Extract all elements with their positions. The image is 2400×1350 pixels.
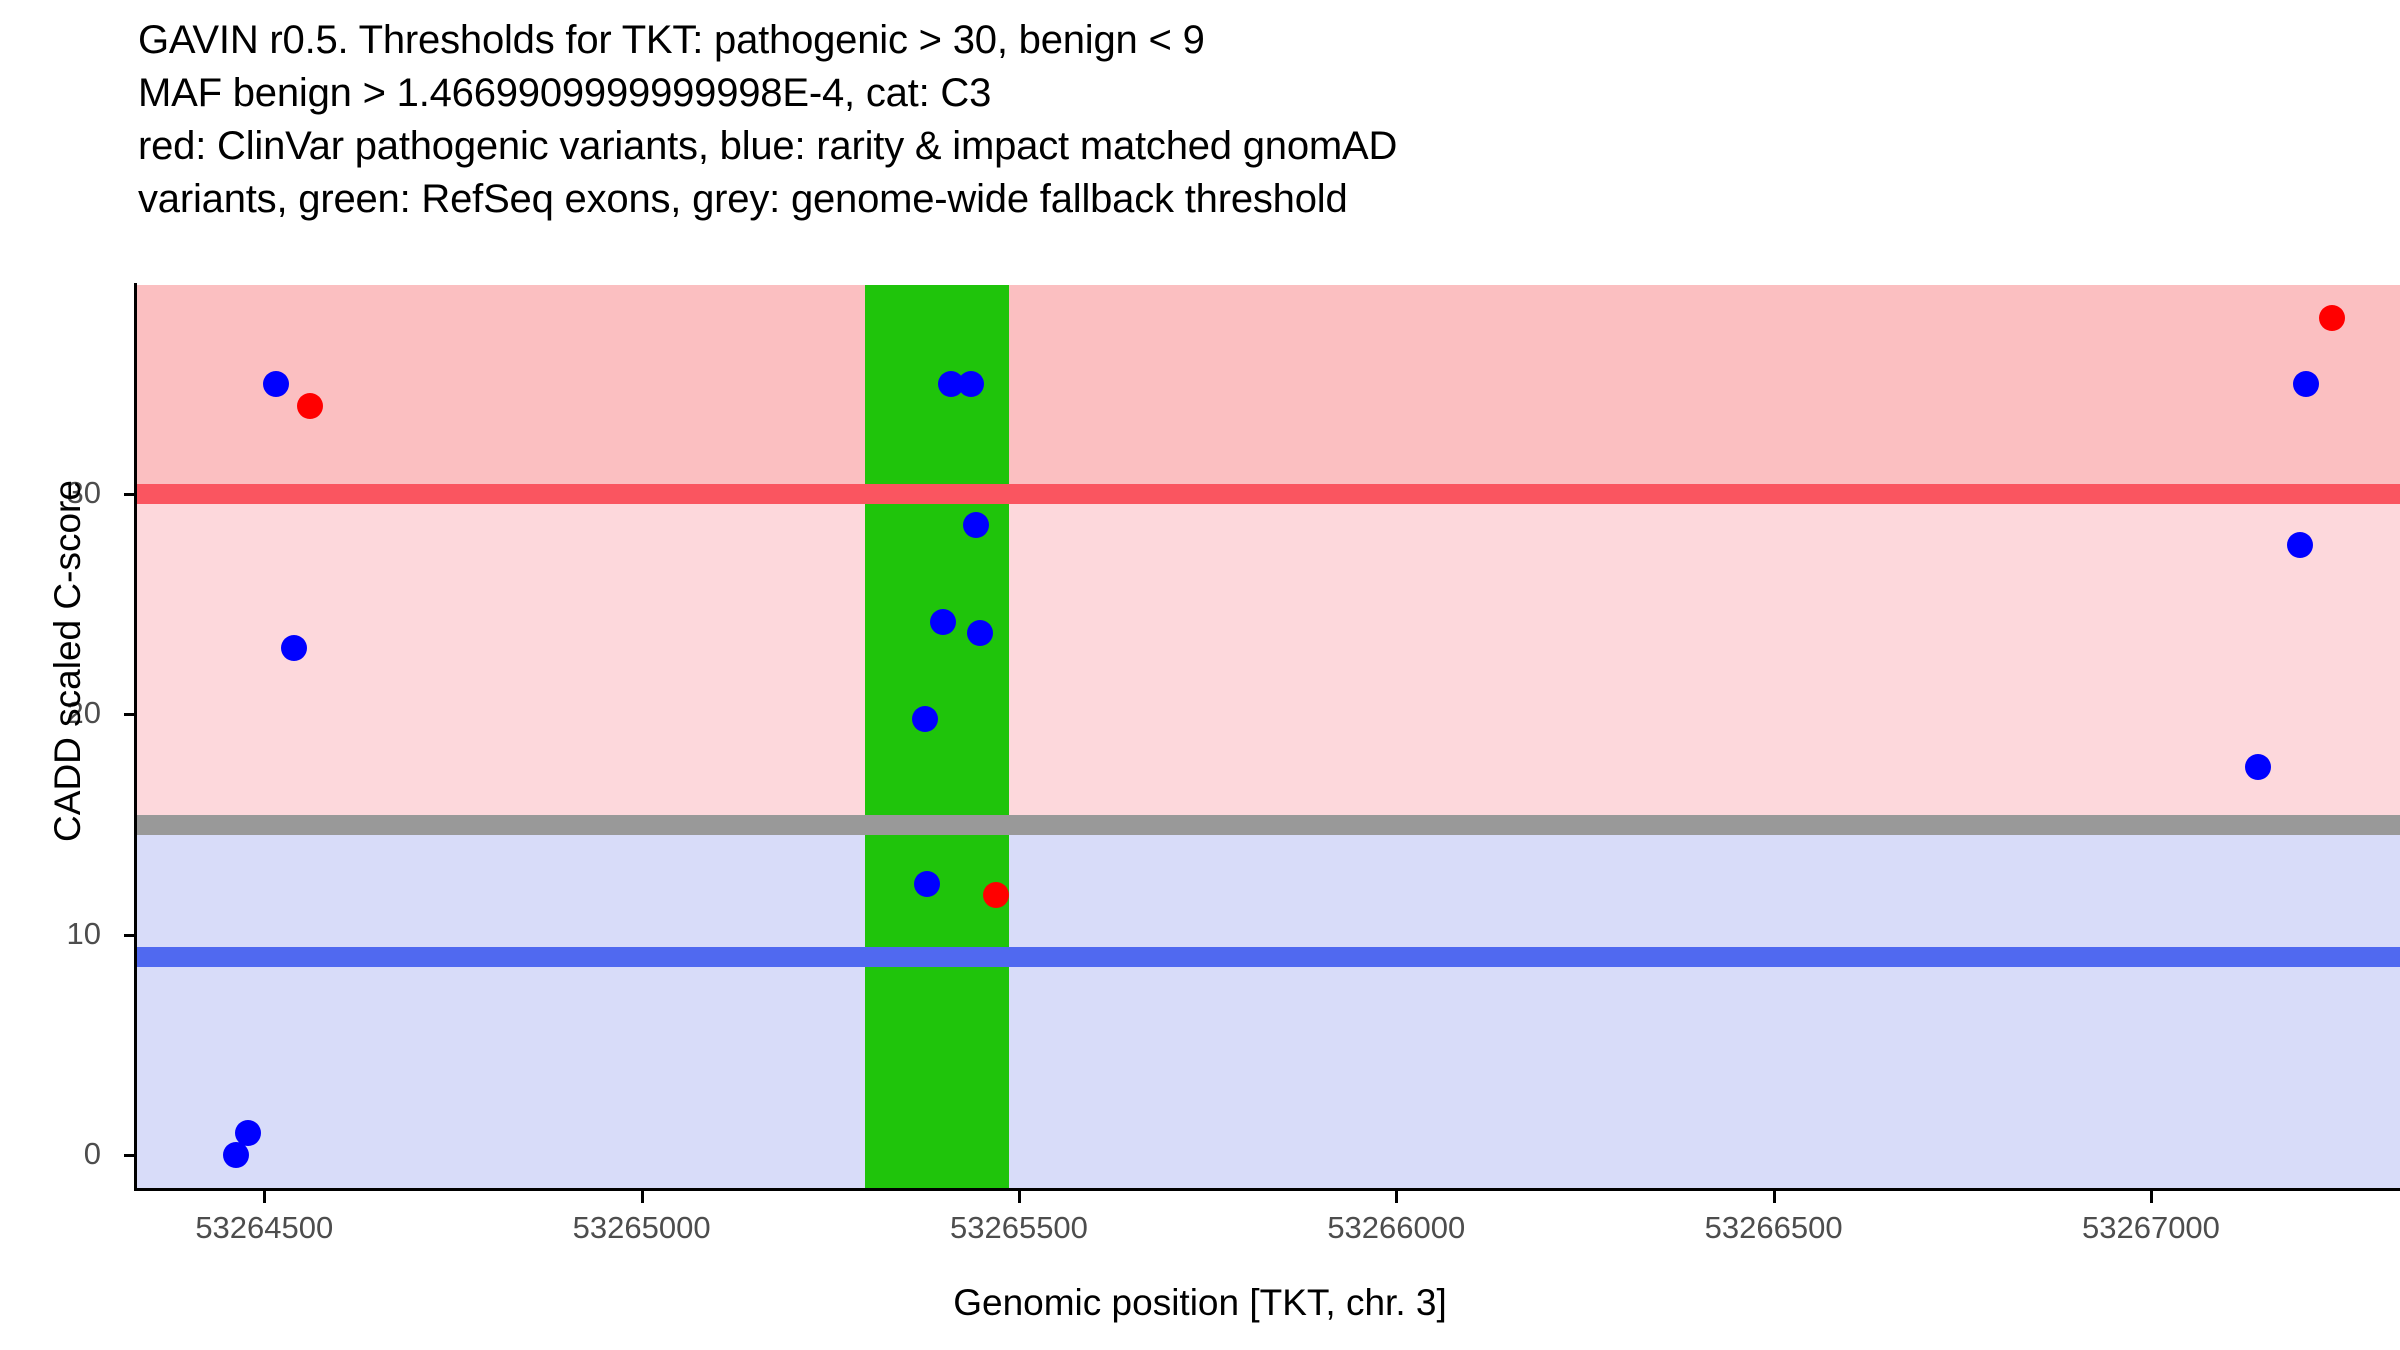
x-tick-mark: [1018, 1191, 1021, 1203]
x-axis-title: Genomic position [TKT, chr. 3]: [0, 1282, 2400, 1324]
title-line-3: red: ClinVar pathogenic variants, blue: …: [138, 120, 2238, 173]
data-point: [963, 512, 989, 538]
y-tick-label: 0: [0, 1136, 101, 1172]
x-tick-label: 53265000: [512, 1210, 772, 1246]
pathogenic-threshold-line: [136, 484, 2400, 504]
title-line-1: GAVIN r0.5. Thresholds for TKT: pathogen…: [138, 14, 2238, 67]
data-point: [912, 706, 938, 732]
benign-zone: [136, 825, 2400, 1188]
data-point: [2319, 305, 2345, 331]
x-tick-label: 53264500: [134, 1210, 394, 1246]
title-line-2: MAF benign > 1.4669909999999998E-4, cat:…: [138, 67, 2238, 120]
x-tick-label: 53265500: [889, 1210, 1149, 1246]
x-tick-mark: [1395, 1191, 1398, 1203]
y-tick-mark: [124, 713, 135, 716]
x-tick-label: 53266000: [1266, 1210, 1526, 1246]
x-tick-mark: [1773, 1191, 1776, 1203]
fallback-threshold-line: [136, 815, 2400, 835]
y-axis-title-wrap: CADD scaled C-score: [0, 0, 1, 1]
benign-threshold-line: [136, 947, 2400, 967]
chart-figure: GAVIN r0.5. Thresholds for TKT: pathogen…: [0, 0, 2400, 1350]
x-tick-mark: [263, 1191, 266, 1203]
data-point: [297, 393, 323, 419]
data-point: [2293, 371, 2319, 397]
data-point: [958, 371, 984, 397]
x-tick-mark: [2150, 1191, 2153, 1203]
x-tick-label: 53266500: [1644, 1210, 1904, 1246]
pathogenic-zone: [136, 285, 2400, 494]
y-axis-title: CADD scaled C-score: [47, 271, 89, 1051]
refseq-exon: [865, 285, 1009, 1188]
x-axis-line: [134, 1188, 2400, 1191]
y-tick-mark: [124, 493, 135, 496]
x-tick-mark: [641, 1191, 644, 1203]
x-tick-label: 53267000: [2021, 1210, 2281, 1246]
y-tick-mark: [124, 934, 135, 937]
data-point: [914, 871, 940, 897]
vus-zone: [136, 494, 2400, 824]
y-axis-line: [134, 283, 137, 1190]
data-point: [263, 371, 289, 397]
y-tick-mark: [124, 1154, 135, 1157]
title-line-4: variants, green: RefSeq exons, grey: gen…: [138, 173, 2238, 226]
plot-panel: [136, 285, 2400, 1188]
chart-title: GAVIN r0.5. Thresholds for TKT: pathogen…: [138, 14, 2238, 226]
